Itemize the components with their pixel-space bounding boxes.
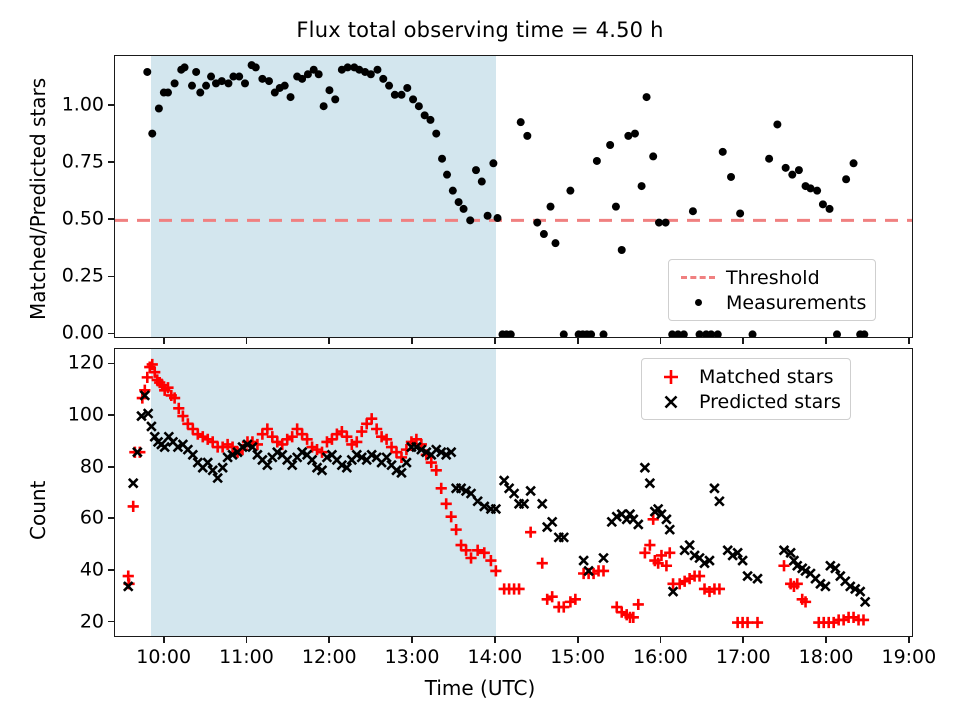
x-axis-label: Time (UTC) — [0, 676, 960, 700]
y-tick-label: 60 — [0, 509, 104, 528]
data-point — [147, 359, 158, 370]
data-point — [662, 219, 670, 227]
data-point — [599, 554, 608, 563]
x-tick-mark — [742, 637, 744, 643]
data-point — [235, 73, 243, 81]
data-point — [727, 173, 735, 181]
x-tick-label: 13:00 — [385, 646, 440, 668]
data-point — [634, 520, 643, 529]
data-point — [449, 187, 457, 195]
count-panel-legend[interactable]: Matched stars Predicted stars — [641, 358, 851, 420]
data-point — [850, 159, 858, 167]
data-point — [540, 230, 548, 238]
data-point — [315, 70, 323, 78]
y-tick-label: 100 — [0, 406, 104, 425]
data-point — [633, 599, 644, 610]
y-tick-label: 40 — [0, 560, 104, 579]
data-point — [479, 547, 490, 558]
x-tick-label: 11:00 — [219, 646, 274, 668]
data-point — [443, 171, 451, 179]
data-point — [819, 200, 827, 208]
data-point — [661, 560, 672, 571]
data-point — [155, 104, 163, 112]
data-point — [252, 63, 260, 71]
data-point — [202, 82, 210, 90]
data-point — [743, 572, 752, 581]
data-point — [685, 541, 694, 550]
data-point — [680, 330, 688, 338]
x-tick-label: 15:00 — [550, 646, 605, 668]
data-point — [478, 178, 486, 186]
threshold-dashed-line-icon — [676, 276, 720, 279]
data-point — [643, 93, 651, 101]
data-point — [719, 148, 727, 156]
data-point — [593, 157, 601, 165]
x-tick-mark — [328, 637, 330, 643]
data-point — [773, 120, 781, 128]
data-point — [579, 556, 588, 565]
x-tick-label: 14:00 — [467, 646, 522, 668]
data-point — [288, 461, 297, 470]
y-tick-label: 80 — [0, 457, 104, 476]
data-point — [551, 239, 559, 247]
y-tick-label: 20 — [0, 612, 104, 631]
data-point — [438, 155, 446, 163]
measurements-dot-icon — [676, 299, 720, 306]
data-point — [382, 453, 391, 462]
data-point — [143, 68, 151, 76]
data-point — [490, 565, 501, 576]
x-tick-label: 16:00 — [633, 646, 688, 668]
data-point — [331, 95, 339, 103]
data-point — [612, 203, 620, 211]
legend-label-measurements: Measurements — [720, 292, 866, 314]
x-tick-mark — [494, 637, 496, 643]
data-point — [402, 458, 411, 467]
legend-item-matched-stars[interactable]: Matched stars — [649, 364, 841, 389]
count-panel-y-axis-label: Count — [26, 481, 50, 540]
data-point — [181, 63, 189, 71]
data-point — [265, 77, 273, 85]
data-point — [500, 476, 509, 485]
data-point — [547, 203, 555, 211]
data-point — [188, 450, 197, 459]
data-point — [484, 212, 492, 220]
data-point — [489, 159, 497, 167]
data-point — [281, 82, 289, 90]
data-point — [782, 164, 790, 172]
data-point — [842, 175, 850, 183]
data-point — [533, 219, 541, 227]
data-point — [485, 555, 496, 566]
data-point — [373, 66, 381, 74]
data-point — [525, 527, 536, 538]
x-tick-mark — [494, 338, 496, 344]
plus-marker-icon — [649, 366, 693, 388]
data-point — [600, 330, 608, 338]
data-point — [537, 558, 548, 569]
x-tick-mark — [246, 637, 248, 643]
data-point — [765, 155, 773, 163]
data-point — [320, 102, 328, 110]
data-point — [752, 617, 763, 628]
data-point — [861, 598, 870, 607]
data-point — [560, 330, 568, 338]
x-tick-label: 12:00 — [302, 646, 357, 668]
cross-marker-icon — [649, 391, 693, 413]
x-tick-mark — [825, 338, 827, 344]
data-point — [241, 79, 249, 87]
data-point — [379, 75, 387, 83]
data-point — [308, 456, 317, 465]
data-point — [441, 498, 452, 509]
data-point — [664, 547, 675, 558]
data-point — [665, 525, 674, 534]
data-point — [738, 556, 747, 565]
x-tick-label: 18:00 — [799, 646, 854, 668]
x-tick-label: 17:00 — [716, 646, 771, 668]
data-point — [520, 499, 529, 508]
legend-label-threshold: Threshold — [720, 267, 820, 289]
x-tick-mark — [825, 637, 827, 643]
data-point — [188, 82, 196, 90]
data-point — [795, 166, 803, 174]
legend-item-predicted-stars[interactable]: Predicted stars — [649, 389, 841, 414]
data-point — [710, 484, 719, 493]
legend-item-threshold[interactable]: Threshold — [676, 265, 866, 290]
data-point — [224, 79, 232, 87]
data-point — [638, 182, 646, 190]
x-tick-mark — [908, 338, 910, 344]
data-point — [426, 116, 434, 124]
data-point — [263, 461, 272, 470]
data-point — [192, 68, 200, 76]
data-point — [618, 246, 626, 254]
data-point — [631, 130, 639, 138]
data-point — [171, 79, 179, 87]
legend-label-predicted-stars: Predicted stars — [693, 391, 841, 413]
x-tick-mark — [411, 338, 413, 344]
data-point — [833, 330, 841, 338]
ratio-panel-legend[interactable]: Threshold Measurements — [668, 259, 876, 321]
data-point — [714, 330, 722, 338]
data-point — [715, 497, 724, 506]
data-point — [753, 574, 762, 583]
data-point — [432, 130, 440, 138]
data-point — [492, 505, 501, 514]
data-point — [455, 198, 463, 206]
data-point — [749, 330, 757, 338]
x-tick-mark — [660, 637, 662, 643]
data-point — [147, 422, 156, 431]
figure-canvas: Flux total observing time = 4.50 h 0.000… — [0, 0, 960, 720]
data-point — [415, 102, 423, 110]
data-point — [213, 474, 222, 483]
x-tick-label: 10:00 — [136, 646, 191, 668]
data-point — [646, 479, 655, 488]
data-point — [128, 501, 139, 512]
data-point — [472, 166, 480, 174]
data-point — [409, 95, 417, 103]
data-point — [538, 499, 547, 508]
x-tick-mark — [577, 338, 579, 344]
data-point — [397, 91, 405, 99]
data-point — [207, 73, 215, 81]
data-point — [641, 463, 650, 472]
data-point — [689, 207, 697, 215]
data-point — [826, 205, 834, 213]
data-point — [460, 205, 468, 213]
legend-item-measurements[interactable]: Measurements — [676, 290, 866, 315]
data-point — [451, 524, 462, 535]
data-point — [813, 187, 821, 195]
data-point — [494, 214, 502, 222]
data-point — [436, 483, 447, 494]
data-point — [662, 515, 671, 524]
data-point — [325, 86, 333, 94]
data-point — [559, 533, 568, 542]
data-point — [148, 130, 156, 138]
data-point — [526, 487, 535, 496]
data-point — [196, 89, 204, 97]
data-point — [736, 209, 744, 217]
chart-title: Flux total observing time = 4.50 h — [0, 18, 960, 42]
data-point — [466, 216, 474, 224]
data-point — [566, 187, 574, 195]
x-tick-mark — [411, 637, 413, 643]
data-point — [548, 518, 557, 527]
data-point — [129, 479, 138, 488]
x-tick-mark — [163, 338, 165, 344]
data-point — [472, 545, 483, 556]
data-point — [517, 118, 525, 126]
data-point — [208, 466, 217, 475]
y-tick-label: 120 — [0, 354, 104, 373]
x-tick-mark — [577, 637, 579, 643]
x-tick-mark — [660, 338, 662, 344]
data-point — [510, 489, 519, 498]
data-point — [606, 141, 614, 149]
x-tick-mark — [246, 338, 248, 344]
count-panel-ytick-labels: 20406080100120 — [0, 0, 104, 720]
data-point — [778, 560, 789, 571]
data-point — [446, 511, 457, 522]
data-point — [218, 463, 227, 472]
data-point — [788, 171, 796, 179]
x-tick-mark — [163, 637, 165, 643]
data-point — [203, 458, 212, 467]
data-point — [385, 82, 393, 90]
data-point — [164, 89, 172, 97]
x-tick-mark — [328, 338, 330, 344]
legend-label-matched-stars: Matched stars — [693, 366, 833, 388]
x-tick-label: 19:00 — [881, 646, 936, 668]
data-point — [523, 132, 531, 140]
data-point — [367, 70, 375, 78]
x-tick-mark — [908, 637, 910, 643]
data-point — [403, 84, 411, 92]
data-point — [649, 152, 657, 160]
x-tick-mark — [742, 338, 744, 344]
data-point — [287, 93, 295, 101]
